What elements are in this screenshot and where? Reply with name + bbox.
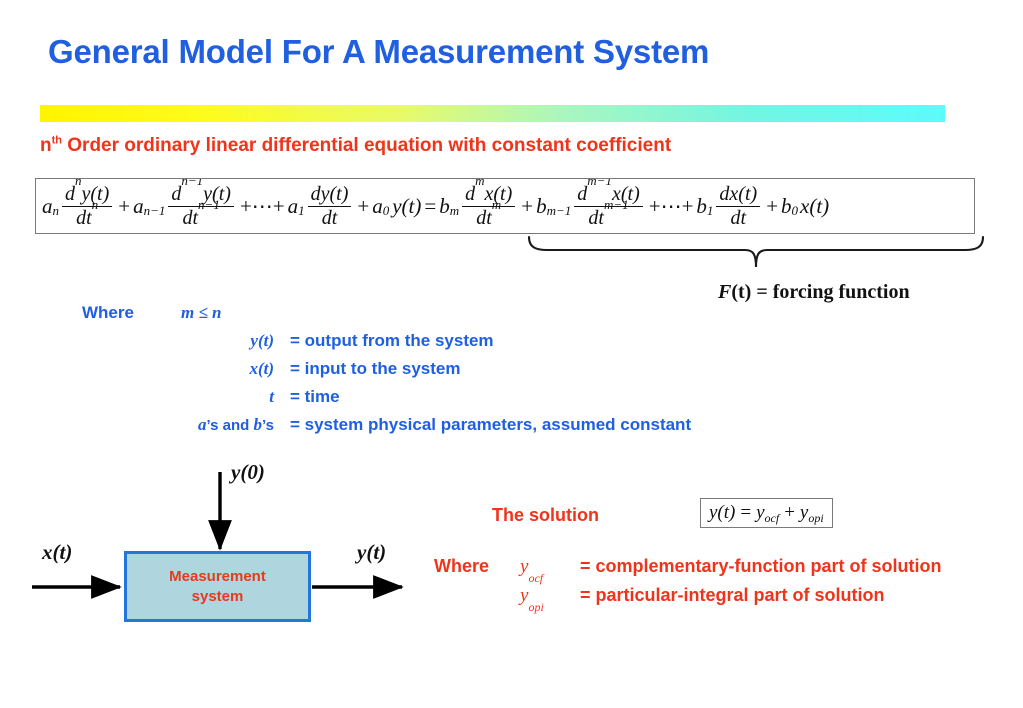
ode-equation-box: an dny(t) dtn + an−1 dn−1y(t) dtn−1 +⋯+ … xyxy=(35,178,975,234)
frac5-den: dt xyxy=(588,207,604,229)
solution-symbol-ocf: yocf xyxy=(520,556,580,578)
ellipsis-2: +⋯+ xyxy=(649,194,694,219)
ellipsis-1: +⋯+ xyxy=(240,194,285,219)
page-title: General Model For A Measurement System xyxy=(48,32,978,72)
solution-where-row-opi: yopi = particular-integral part of solut… xyxy=(434,585,1023,614)
frac2-num-sup: n−1 xyxy=(181,178,203,188)
where-row-mn: Where m ≤ n xyxy=(82,303,902,331)
where-definition-xt: = input to the system xyxy=(278,359,461,379)
equals-sign: = xyxy=(424,194,436,219)
frac4-den: dt xyxy=(476,207,492,229)
a0-var: y(t) xyxy=(392,194,421,219)
where-keyword: Where xyxy=(82,303,177,323)
where-definition-ab: = system physical parameters, assumed co… xyxy=(278,415,691,435)
where-definition-t: = time xyxy=(278,387,340,407)
where-symbol-t: t xyxy=(177,387,278,407)
solution-symbol-opi-sub: opi xyxy=(528,600,543,614)
solution-equals: = xyxy=(740,502,751,524)
subtitle-prefix: n xyxy=(40,135,52,156)
solution-term1: y xyxy=(756,502,764,524)
measurement-system-block: Measurement system xyxy=(124,551,311,622)
forcing-f: F xyxy=(718,281,731,303)
measurement-system-label-line1: Measurement xyxy=(169,567,266,587)
solution-lhs: y(t) xyxy=(709,502,735,524)
frac2-den: dt xyxy=(182,207,198,229)
frac1-den: dt xyxy=(76,207,92,229)
fraction-dnm1-y: dn−1y(t) dtn−1 xyxy=(168,184,234,228)
solution-definition-opi: = particular-integral part of solution xyxy=(580,585,885,606)
solution-definition-ocf: = complementary-function part of solutio… xyxy=(580,556,942,577)
where-symbol-ab: a’s and b’s xyxy=(177,415,278,435)
plus-4: + xyxy=(766,194,778,219)
fraction-dm-x: dmx(t) dtm xyxy=(462,184,515,228)
where-sym-a: a xyxy=(198,415,207,434)
where-sym-b: b xyxy=(254,415,263,434)
slide-canvas: General Model For A Measurement System n… xyxy=(0,0,1023,708)
frac6-den: dt xyxy=(728,207,750,228)
solution-symbol-ocf-sub: ocf xyxy=(528,571,543,585)
where-definitions-list: Where m ≤ n y(t) = output from the syste… xyxy=(82,303,902,443)
frac5-num-d: d xyxy=(577,183,587,205)
frac6-num: dx(t) xyxy=(716,184,760,206)
frac4-num-d: d xyxy=(465,183,475,205)
plus-3: + xyxy=(521,194,533,219)
solution-where-row-ocf: Where yocf = complementary-function part… xyxy=(434,556,1023,585)
frac1-num-d: d xyxy=(65,183,75,205)
frac2-num-d: d xyxy=(171,183,181,205)
forcing-t: (t) xyxy=(731,281,751,303)
frac3-num: dy(t) xyxy=(308,184,352,206)
coef-b1: b xyxy=(696,194,707,219)
solution-plus: + xyxy=(784,502,795,524)
where-row-ab: a’s and b’s = system physical parameters… xyxy=(82,415,902,443)
forcing-function-label: F(t) = forcing function xyxy=(718,281,910,304)
solution-where-keyword: Where xyxy=(434,556,520,577)
underbrace-icon xyxy=(527,236,985,270)
plus-1: + xyxy=(118,194,130,219)
coef-a1: a xyxy=(288,194,299,219)
fraction-dy-dt: dy(t) dt xyxy=(308,184,352,228)
forcing-rest: = forcing function xyxy=(751,281,909,303)
ode-equation-content: an dny(t) dtn + an−1 dn−1y(t) dtn−1 +⋯+ … xyxy=(42,179,829,233)
frac4-num-sup: m xyxy=(475,178,484,188)
solution-heading: The solution xyxy=(492,505,599,526)
fraction-dn-y: dny(t) dtn xyxy=(62,184,112,228)
frac2-den-sup: n−1 xyxy=(198,197,220,212)
where-definition-yt: = output from the system xyxy=(278,331,494,351)
plus-2: + xyxy=(357,194,369,219)
subtitle-superscript: th xyxy=(52,135,62,147)
frac3-den: dt xyxy=(319,207,341,228)
solution-where-list: Where yocf = complementary-function part… xyxy=(434,556,1023,614)
measurement-system-label-line2: system xyxy=(192,587,244,607)
frac5-den-sup: m−1 xyxy=(604,197,629,212)
fraction-dx-dt: dx(t) dt xyxy=(716,184,760,228)
subtitle: nth Order ordinary linear differential e… xyxy=(40,135,671,157)
coef-an: a xyxy=(42,194,53,219)
solution-term2: y xyxy=(800,502,808,524)
subtitle-rest: Order ordinary linear differential equat… xyxy=(62,135,671,156)
frac1-num-sup: n xyxy=(75,178,82,188)
coef-b0: b xyxy=(781,194,792,219)
where-symbol-m-le-n: m ≤ n xyxy=(177,303,226,323)
solution-symbol-opi: yopi xyxy=(520,585,580,607)
coef-anm1: a xyxy=(133,194,144,219)
frac4-den-sup: m xyxy=(492,197,501,212)
where-sym-a-plain: ’s and xyxy=(207,417,250,434)
fraction-dmm1-x: dm−1x(t) dtm−1 xyxy=(574,184,642,228)
solution-equation-box: y(t) = yocf + yopi xyxy=(700,498,833,528)
where-row-t: t = time xyxy=(82,387,902,415)
coef-a0: a xyxy=(372,194,383,219)
where-sym-b-plain: ’s xyxy=(262,417,274,434)
coef-bmm1: b xyxy=(536,194,547,219)
b0-var: x(t) xyxy=(800,194,829,219)
frac1-den-sup: n xyxy=(92,197,99,212)
where-row-yt: y(t) = output from the system xyxy=(82,331,902,359)
gradient-divider xyxy=(40,105,945,122)
frac5-num-sup: m−1 xyxy=(587,178,612,188)
where-row-xt: x(t) = input to the system xyxy=(82,359,902,387)
where-symbol-yt: y(t) xyxy=(177,331,278,351)
where-symbol-xt: x(t) xyxy=(177,359,278,379)
coef-bm: b xyxy=(439,194,450,219)
